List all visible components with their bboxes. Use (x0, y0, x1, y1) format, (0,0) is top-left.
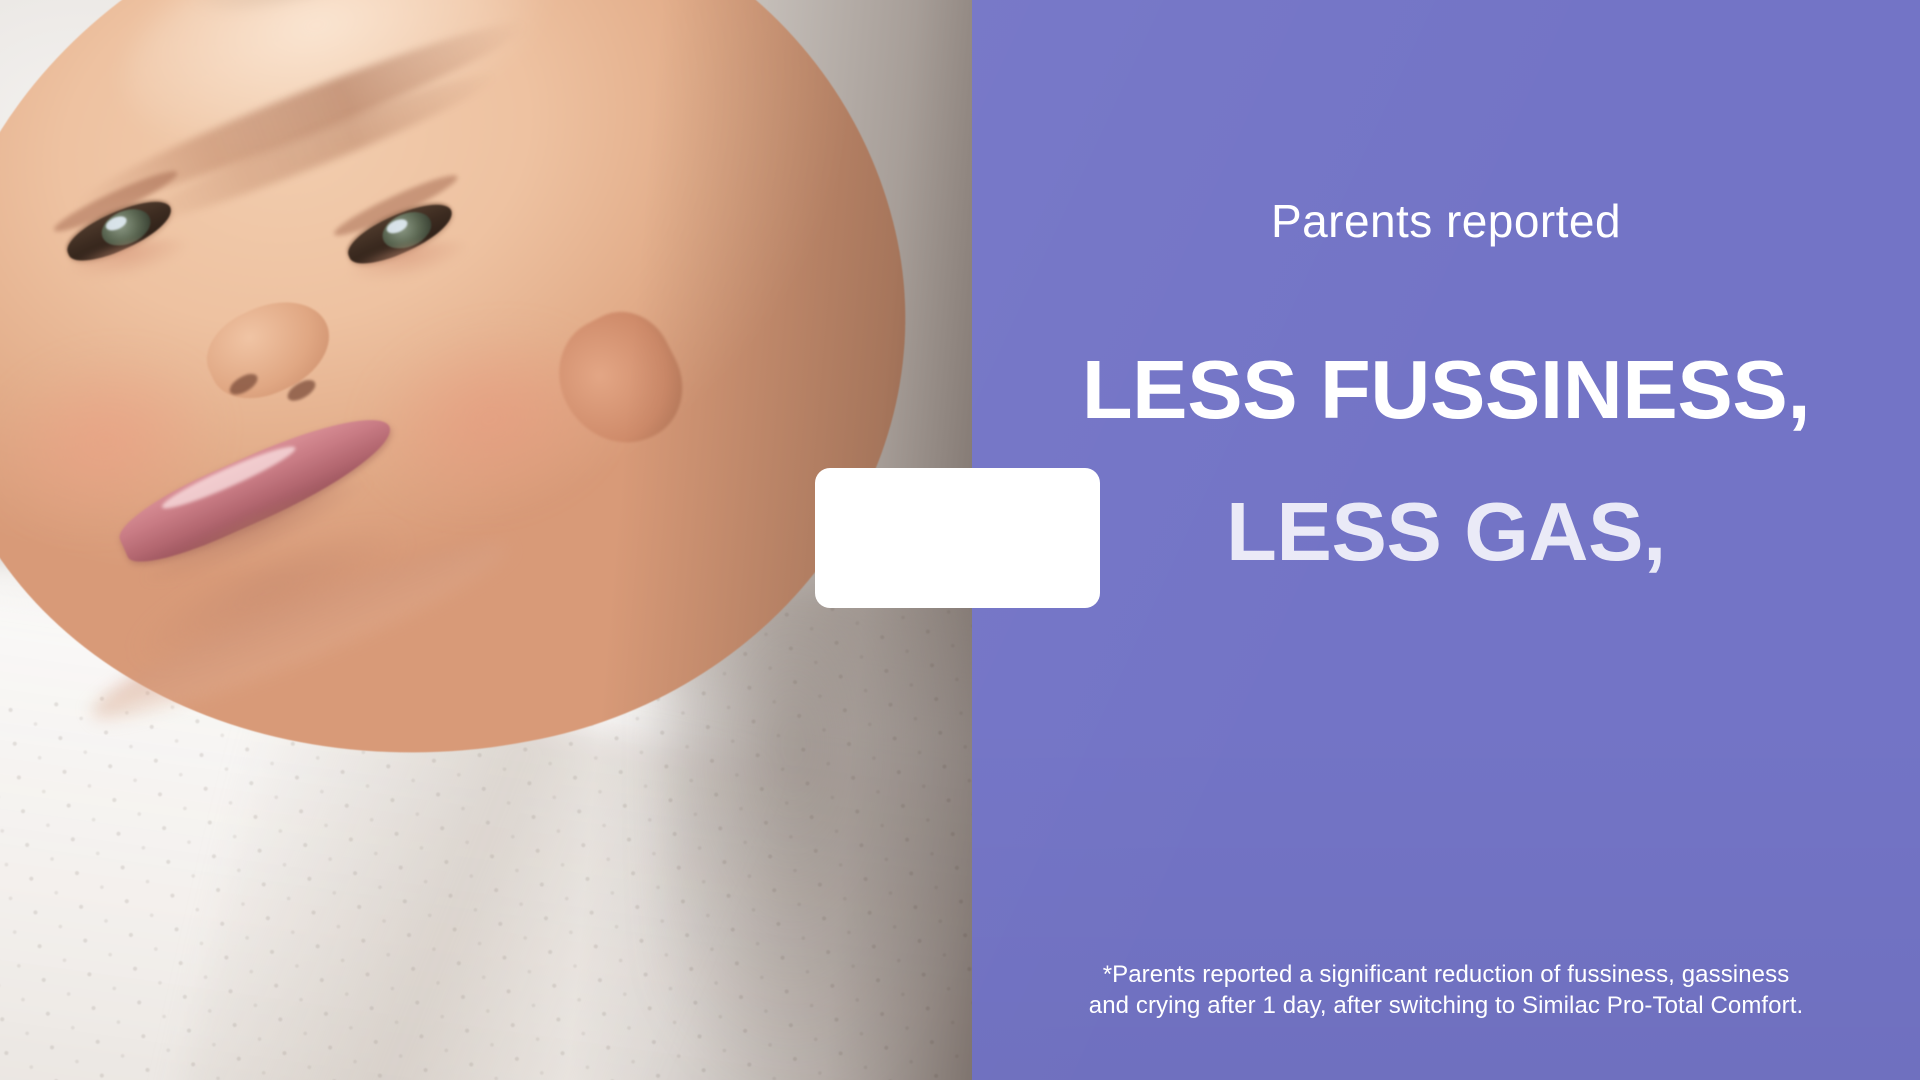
message-panel: Parents reported LESS FUSSINESS, LESS GA… (972, 0, 1920, 1080)
ad-slide: Parents reported LESS FUSSINESS, LESS GA… (0, 0, 1920, 1080)
headline-line-2: LESS GAS, (972, 490, 1920, 573)
headline-line-1: LESS FUSSINESS, (972, 348, 1920, 431)
footnote-line-1: *Parents reported a significant reductio… (972, 959, 1920, 991)
baby-nose (194, 284, 345, 416)
eyebrow-text: Parents reported (972, 196, 1920, 247)
footnote-line-2: and crying after 1 day, after switching … (972, 990, 1920, 1022)
legal-footnote: *Parents reported a significant reductio… (972, 959, 1920, 1022)
white-logo-card (815, 468, 1100, 608)
